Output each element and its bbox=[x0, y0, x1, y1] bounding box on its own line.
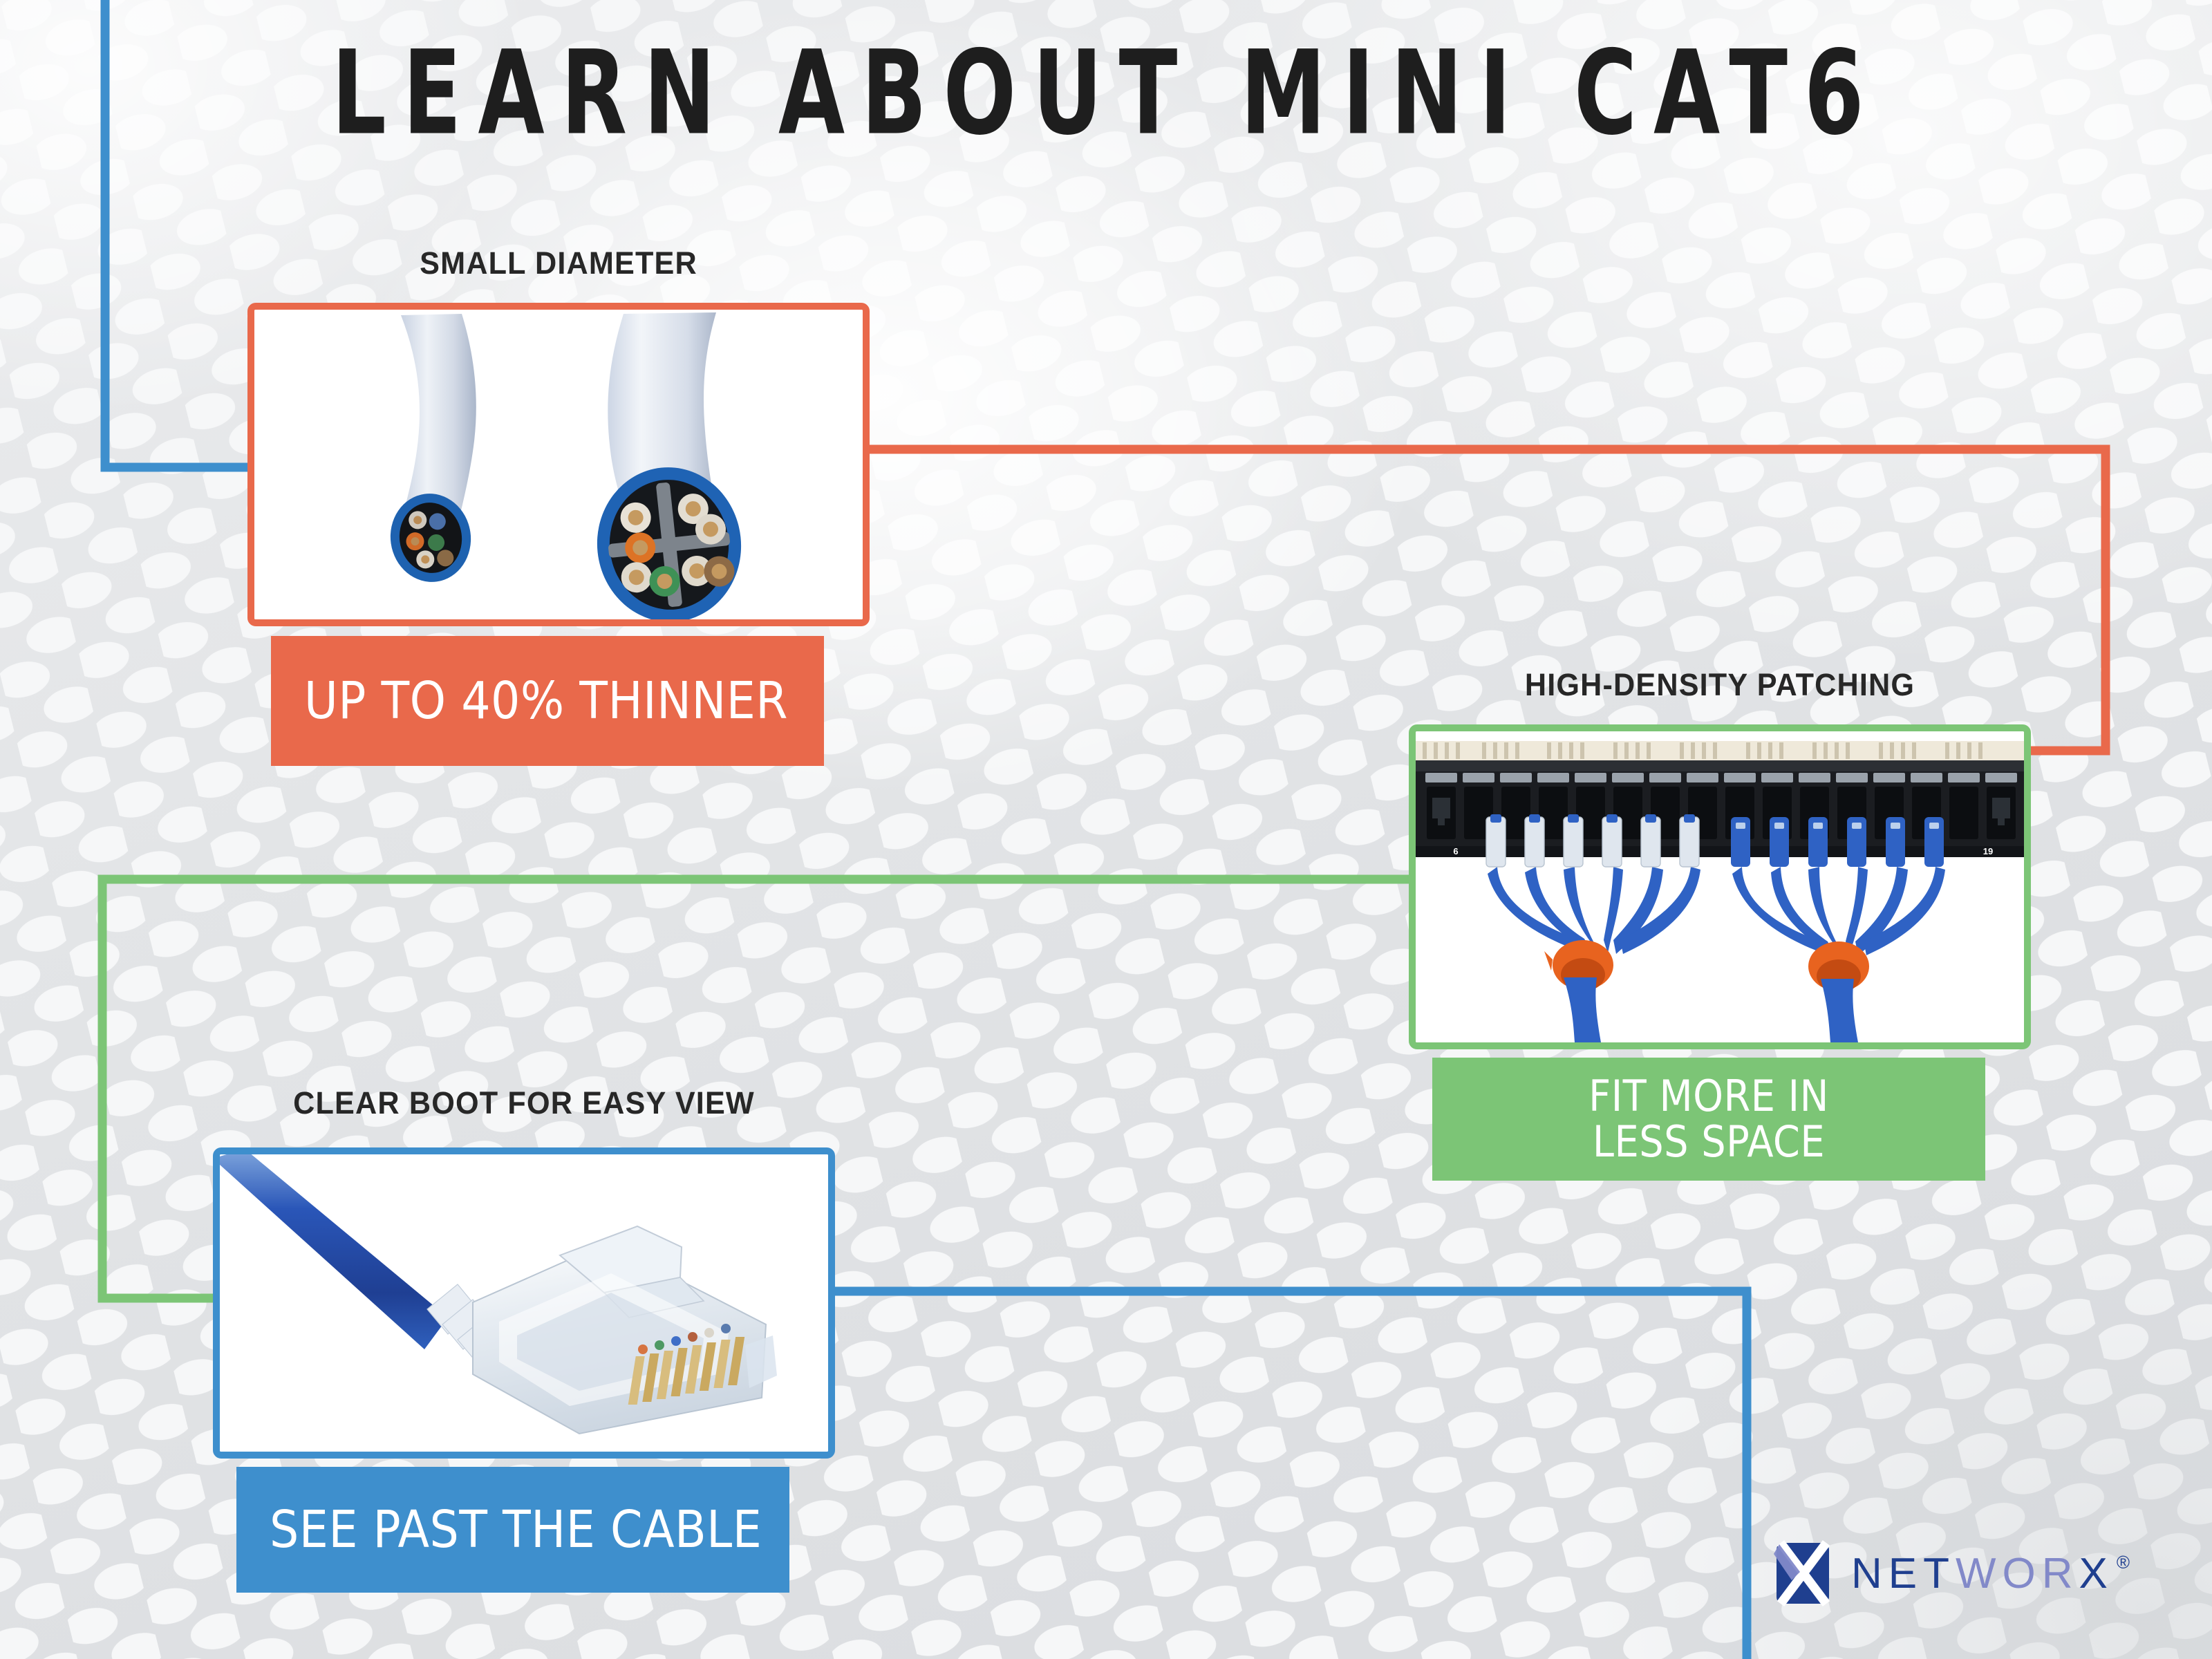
photo-cable-cross-sections bbox=[254, 310, 863, 619]
wordmark-net: NET bbox=[1851, 1549, 1956, 1598]
photo-frame-rj45-connector bbox=[213, 1147, 835, 1459]
photo-frame-cable-cross-sections bbox=[247, 303, 870, 626]
networx-wordmark: NETWORX® bbox=[1851, 1549, 2130, 1598]
photo-frame-patch-panel: 6 19 bbox=[1409, 724, 2031, 1049]
caption-fit-more-in-less-space: FIT MORE IN LESS SPACE bbox=[1432, 1058, 1985, 1181]
card-label-small-diameter: SMALL DIAMETER bbox=[260, 245, 857, 281]
port-label-6: 6 bbox=[1453, 846, 1458, 856]
photo-rj45-clear-boot bbox=[220, 1154, 828, 1452]
caption-line-1: FIT MORE IN bbox=[1588, 1071, 1829, 1121]
caption-up-to-40-thinner: UP TO 40% THINNER bbox=[271, 636, 824, 766]
card-label-high-density-patching: HIGH-DENSITY PATCHING bbox=[1421, 667, 2018, 703]
page-title: LEARN ABOUT MINI CAT6 bbox=[88, 26, 2124, 161]
caption-line-2: LESS SPACE bbox=[1593, 1116, 1825, 1167]
networx-x-mark bbox=[1770, 1540, 1836, 1606]
registered-trademark-icon: ® bbox=[2117, 1552, 2130, 1573]
orange-connector-line bbox=[864, 449, 2106, 751]
networx-logo[interactable]: NETWORX® bbox=[1770, 1540, 2130, 1606]
wordmark-wor: WOR bbox=[1956, 1549, 2079, 1598]
card-label-clear-boot: CLEAR BOOT FOR EASY VIEW bbox=[225, 1085, 823, 1121]
blue-connector-line-bottom bbox=[829, 1291, 1747, 1659]
photo-patch-panel: 6 19 bbox=[1416, 731, 2024, 1042]
wordmark-x: X bbox=[2079, 1549, 2114, 1598]
caption-see-past-the-cable: SEE PAST THE CABLE bbox=[236, 1467, 789, 1593]
port-label-19: 19 bbox=[1983, 846, 1993, 856]
